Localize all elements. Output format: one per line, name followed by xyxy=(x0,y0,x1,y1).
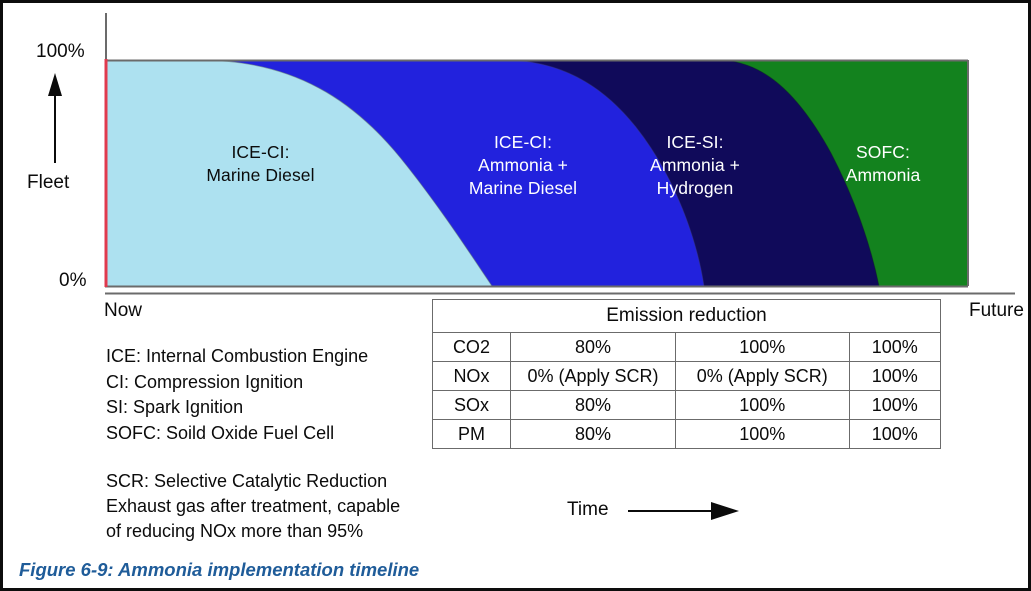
band-label-sofc-ammonia: SOFC: Ammonia xyxy=(803,141,963,187)
table-cell: 100% xyxy=(676,420,849,449)
table-cell: 80% xyxy=(510,391,675,420)
band-label-ice-ci-ammonia-marine-diesel: ICE-CI: Ammonia + Marine Diesel xyxy=(443,131,603,199)
time-direction-arrow xyxy=(628,502,739,520)
table-cell: 100% xyxy=(849,420,941,449)
y-axis-title: Fleet xyxy=(27,172,69,194)
table-row-label: SOx xyxy=(433,391,511,420)
table-row-label: NOx xyxy=(433,362,511,391)
table-cell: 0% (Apply SCR) xyxy=(676,362,849,391)
x-axis-label-future: Future xyxy=(969,300,1024,322)
table-row: PM 80% 100% 100% xyxy=(433,420,941,449)
table-header-row: Emission reduction xyxy=(433,300,941,333)
figure-caption: Figure 6-9: Ammonia implementation timel… xyxy=(19,559,419,581)
table-cell: 0% (Apply SCR) xyxy=(510,362,675,391)
fleet-direction-arrow xyxy=(48,73,62,163)
y-axis-tick-100: 100% xyxy=(36,41,85,63)
table-cell: 100% xyxy=(849,333,941,362)
band-label-ice-si-ammonia-hydrogen: ICE-SI: Ammonia + Hydrogen xyxy=(615,131,775,199)
table-cell: 100% xyxy=(676,391,849,420)
table-row: SOx 80% 100% 100% xyxy=(433,391,941,420)
emission-reduction-table: Emission reduction CO2 80% 100% 100% NOx… xyxy=(432,299,941,449)
table-cell: 80% xyxy=(510,333,675,362)
figure-container: ICE-CI: Marine Diesel ICE-CI: Ammonia + … xyxy=(0,0,1031,591)
x-axis-label-now: Now xyxy=(104,300,142,322)
table-cell: 80% xyxy=(510,420,675,449)
table-row: NOx 0% (Apply SCR) 0% (Apply SCR) 100% xyxy=(433,362,941,391)
scr-description: SCR: Selective Catalytic Reduction Exhau… xyxy=(106,469,400,543)
band-label-ice-ci-marine-diesel: ICE-CI: Marine Diesel xyxy=(173,141,348,187)
x-axis-direction-label: Time xyxy=(567,499,609,521)
table-row: CO2 80% 100% 100% xyxy=(433,333,941,362)
table-cell: 100% xyxy=(849,362,941,391)
y-axis-tick-0: 0% xyxy=(59,270,86,292)
table-row-label: PM xyxy=(433,420,511,449)
abbreviations-list: ICE: Internal Combustion Engine CI: Comp… xyxy=(106,344,368,446)
table-cell: 100% xyxy=(676,333,849,362)
table-row-label: CO2 xyxy=(433,333,511,362)
table-title: Emission reduction xyxy=(433,300,941,333)
table-cell: 100% xyxy=(849,391,941,420)
